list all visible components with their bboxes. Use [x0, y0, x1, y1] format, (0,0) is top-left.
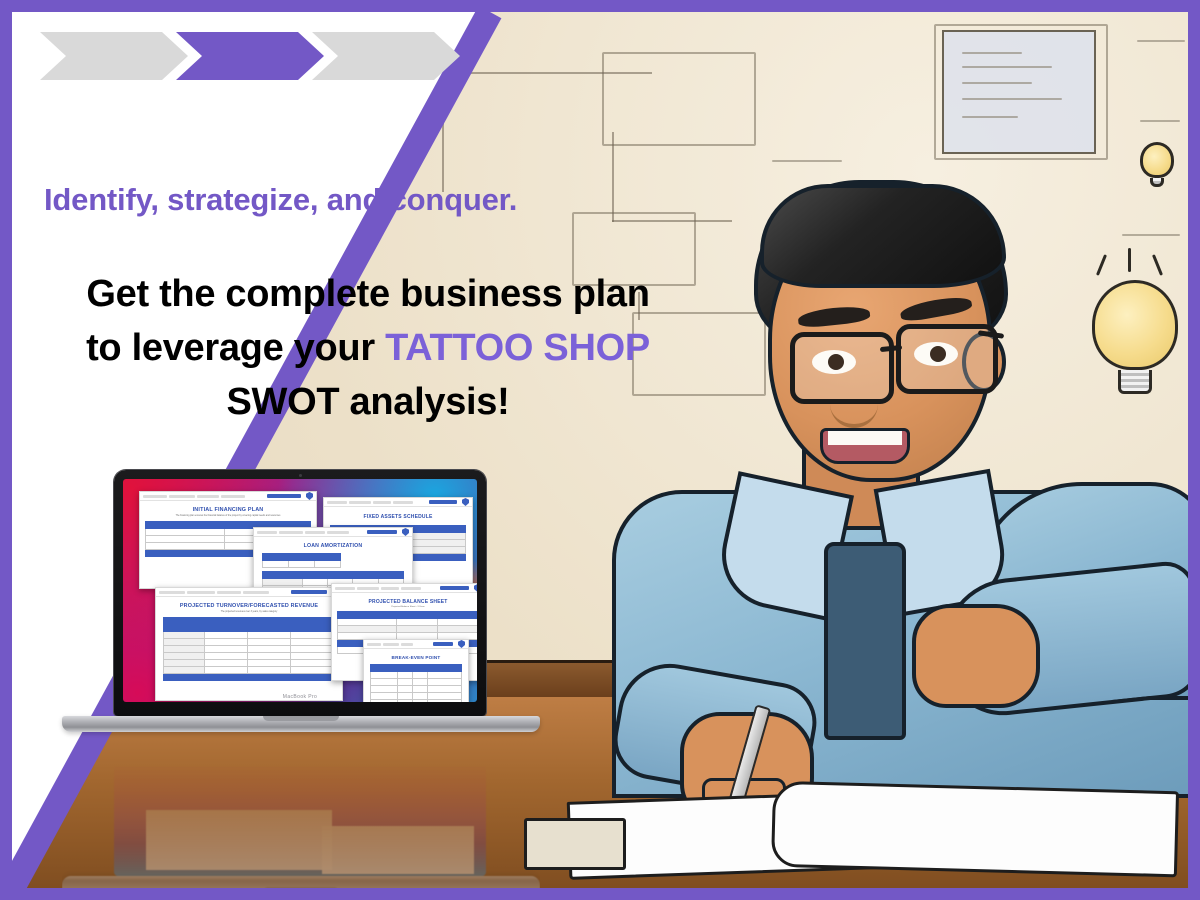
- laptop-mockup: INITIAL FINANCING PLAN The financing pla…: [62, 470, 540, 770]
- doc-ribbon: [254, 528, 412, 537]
- step-chevrons: [40, 32, 448, 80]
- page-title: Get the complete business plan to levera…: [30, 268, 706, 430]
- doc-title: PROJECTED TURNOVER/FORECASTED REVENUE: [156, 603, 342, 609]
- doc-title: LOAN AMORTIZATION: [254, 543, 412, 549]
- content-layer: Identify, strategize, and conquer. Get t…: [0, 0, 1200, 900]
- doc-title: FIXED ASSETS SCHEDULE: [324, 514, 472, 520]
- doc-subtitle: Projected Balance Sheet - 3 Years: [332, 606, 477, 608]
- laptop-reflection: [62, 762, 540, 892]
- laptop-model-label: MacBook Pro: [123, 694, 477, 700]
- laptop-base-notch: [263, 716, 339, 721]
- doc-table-summary: [262, 553, 341, 568]
- chevron-step-2-active[interactable]: [176, 32, 324, 80]
- doc-shield-icon: [474, 584, 477, 592]
- chevron-step-3[interactable]: [312, 32, 460, 80]
- laptop-screen: INITIAL FINANCING PLAN The financing pla…: [123, 479, 477, 702]
- headline-line-2-lead: to leverage your: [86, 327, 385, 369]
- document-projected-turnover[interactable]: PROJECTED TURNOVER/FORECASTED REVENUE Th…: [155, 587, 343, 701]
- doc-ribbon: [140, 492, 316, 501]
- document-break-even-point[interactable]: BREAK-EVEN POINT: [363, 639, 469, 702]
- doc-shield-icon: [462, 498, 469, 506]
- chevron-step-1[interactable]: [40, 32, 188, 80]
- laptop-base: [62, 716, 540, 732]
- doc-ribbon: [156, 588, 342, 597]
- doc-ribbon: [324, 498, 472, 507]
- doc-ribbon: [364, 640, 468, 649]
- slide-root: Identify, strategize, and conquer. Get t…: [0, 0, 1200, 900]
- doc-title: BREAK-EVEN POINT: [364, 655, 468, 660]
- doc-title: INITIAL FINANCING PLAN: [140, 507, 316, 513]
- headline-line-3: SWOT analysis!: [30, 376, 706, 430]
- doc-subtitle: The financing plan ensures the financial…: [150, 515, 306, 517]
- doc-shield-icon: [458, 640, 465, 648]
- tagline: Identify, strategize, and conquer.: [44, 182, 517, 218]
- doc-shield-icon: [306, 492, 313, 500]
- headline-accent: TATTOO SHOP: [385, 327, 650, 369]
- doc-subtitle: The projected revenues over 3 years, by …: [156, 611, 342, 613]
- headline-line-2: to leverage your TATTOO SHOP: [30, 322, 706, 376]
- doc-shield-icon: [402, 528, 409, 536]
- doc-table: [163, 617, 334, 681]
- laptop-lid: INITIAL FINANCING PLAN The financing pla…: [114, 470, 486, 716]
- laptop-camera-icon: [299, 474, 302, 477]
- doc-ribbon: [332, 584, 477, 593]
- doc-title: PROJECTED BALANCE SHEET: [332, 599, 477, 605]
- headline-line-1: Get the complete business plan: [30, 268, 706, 322]
